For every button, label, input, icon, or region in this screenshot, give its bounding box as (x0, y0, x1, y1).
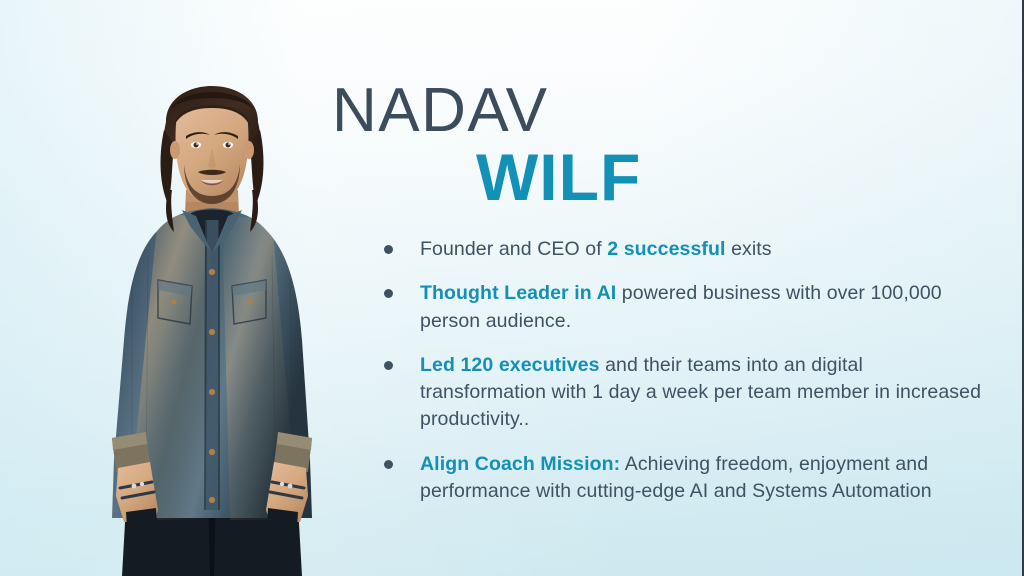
bullet-dot-icon (384, 289, 393, 298)
bullet-text: Thought Leader in AI powered business wi… (420, 282, 942, 331)
name-title-block: NADAV WILF (332, 82, 641, 210)
plain-phrase: exits (726, 238, 772, 260)
highlighted-phrase: 2 successful (607, 238, 725, 260)
bullet-founder-ceo: Founder and CEO of 2 successful exits (376, 236, 982, 263)
last-name-text: WILF (476, 144, 641, 210)
first-name-text: NADAV (332, 82, 641, 140)
highlighted-phrase: Align Coach Mission: (420, 453, 620, 475)
bullet-dot-icon (384, 245, 393, 254)
bullet-text: Founder and CEO of 2 successful exits (420, 238, 772, 260)
highlighted-phrase: Thought Leader in AI (420, 282, 616, 304)
bullet-led-executives: Led 120 executives and their teams into … (376, 352, 982, 434)
bullet-dot-icon (384, 361, 393, 370)
plain-phrase: Founder and CEO of (420, 238, 607, 260)
bullet-align-coach-mission: Align Coach Mission: Achieving freedom, … (376, 451, 982, 506)
bullet-text: Align Coach Mission: Achieving freedom, … (420, 453, 932, 502)
highlighted-phrase: Led 120 executives (420, 354, 600, 376)
portrait-photo (62, 40, 362, 576)
bullet-text: Led 120 executives and their teams into … (420, 354, 981, 431)
bullet-thought-leader: Thought Leader in AI powered business wi… (376, 280, 982, 335)
bullet-dot-icon (384, 460, 393, 469)
presentation-slide: NADAV WILF Founder and CEO of 2 successf… (0, 0, 1024, 576)
bio-bullet-list: Founder and CEO of 2 successful exits Th… (376, 236, 982, 505)
